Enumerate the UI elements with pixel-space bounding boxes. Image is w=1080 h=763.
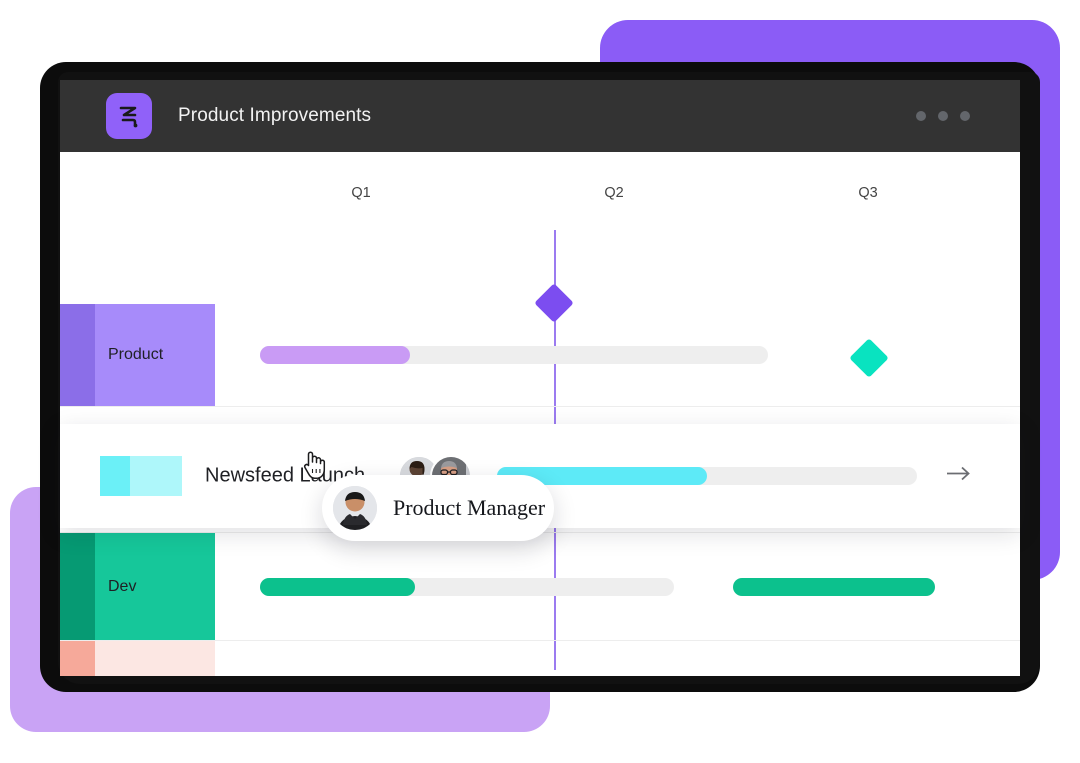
window-dot-3[interactable] — [960, 111, 970, 121]
hand-pointer-cursor — [300, 448, 328, 485]
row-label-product[interactable]: Product — [60, 304, 215, 406]
quarter-label-q3: Q3 — [858, 185, 877, 201]
row-bar-dev-2[interactable] — [733, 578, 935, 596]
quarter-label-q2: Q2 — [604, 185, 623, 201]
app-window: Product Improvements Q1 Q2 Q3 — [60, 80, 1020, 676]
app-title: Product Improvements — [178, 105, 371, 127]
timeline-canvas: Q1 Q2 Q3 Product — [60, 152, 1020, 676]
newsfeed-color-chip — [100, 456, 182, 496]
quarter-label-q1: Q1 — [351, 185, 370, 201]
product-manager-tooltip[interactable]: Product Manager — [322, 475, 554, 541]
newsfeed-chip-dark — [100, 456, 130, 496]
row-title-product: Product — [108, 346, 163, 364]
row-label-dev[interactable]: Dev — [60, 533, 215, 640]
squiggle-logo-icon — [106, 93, 152, 139]
row-title-dev: Dev — [108, 578, 136, 596]
stage: Product Improvements Q1 Q2 Q3 — [0, 0, 1080, 763]
window-dot-1[interactable] — [916, 111, 926, 121]
row-label-design[interactable]: Design — [60, 641, 215, 676]
row-bar-dev-1[interactable] — [260, 578, 415, 596]
row-strip-dev — [60, 533, 95, 640]
title-bar: Product Improvements — [60, 80, 1020, 152]
row-strip-product — [60, 304, 95, 406]
quarter-header: Q1 Q2 Q3 — [60, 152, 1020, 232]
avatar-product-manager — [333, 486, 377, 530]
arrow-right-icon[interactable] — [946, 466, 972, 487]
tooltip-label: Product Manager — [393, 495, 545, 521]
window-dot-2[interactable] — [938, 111, 948, 121]
row-bar-product[interactable] — [260, 346, 410, 364]
row-chip-design — [95, 641, 215, 676]
timeline-row-design[interactable]: Design — [60, 641, 1020, 676]
row-strip-design — [60, 641, 95, 676]
newsfeed-chip-light — [130, 456, 182, 496]
window-controls[interactable] — [916, 111, 970, 121]
timeline-row-dev[interactable]: Dev — [60, 533, 1020, 640]
